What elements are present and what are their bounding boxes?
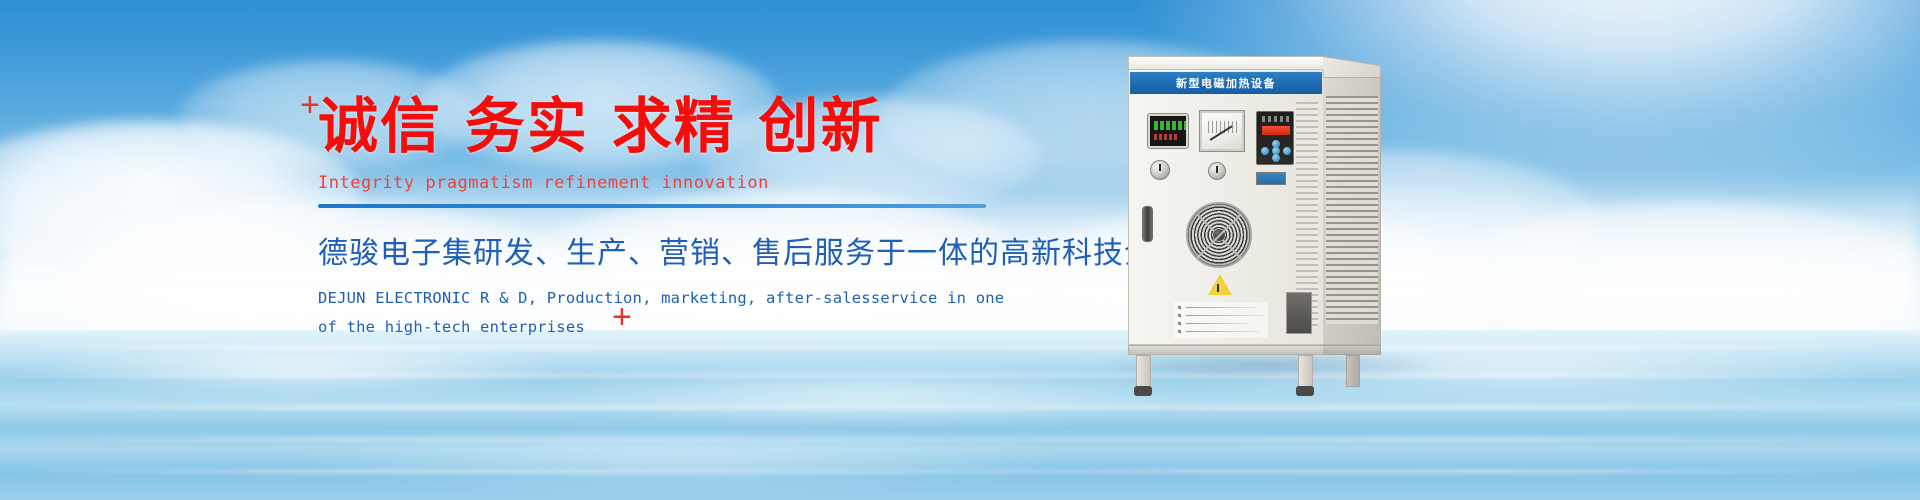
warning-triangle-icon bbox=[1208, 274, 1232, 295]
lower-air-intake bbox=[1286, 292, 1312, 334]
digital-display bbox=[1148, 114, 1188, 148]
power-switch[interactable] bbox=[1256, 172, 1286, 185]
subtitle-chinese: 德骏电子集研发、生产、营销、售后服务于一体的高新科技企业 bbox=[318, 228, 1078, 272]
analog-meter bbox=[1200, 111, 1244, 151]
machine-top-panel bbox=[1128, 56, 1324, 70]
fan-hub bbox=[1213, 229, 1225, 241]
warning-exclamation-mark bbox=[1217, 284, 1219, 292]
machine-foot-right bbox=[1296, 386, 1314, 396]
machine-side-vents bbox=[1326, 96, 1378, 324]
display-segment-top bbox=[1154, 121, 1186, 130]
machine-base-side bbox=[1323, 345, 1381, 355]
spec-label bbox=[1174, 302, 1268, 338]
machine-base bbox=[1128, 345, 1324, 355]
machine-label-text: 新型电磁加热设备 bbox=[1176, 75, 1276, 91]
product-image-heating-equipment: 新型电磁加热设备 bbox=[1120, 56, 1420, 386]
subtitle-english-line2: of the high-tech enterprises bbox=[318, 313, 1078, 342]
promo-banner: + + 诚信 务实 求精 创新 Integrity pragmatism ref… bbox=[0, 0, 1920, 500]
control-knob-right[interactable] bbox=[1208, 162, 1226, 180]
keypad-label bbox=[1262, 116, 1290, 122]
divider-rule bbox=[318, 204, 986, 208]
door-handle[interactable] bbox=[1142, 206, 1153, 242]
plus-decor-icon: + bbox=[300, 88, 320, 122]
display-segment-bottom bbox=[1154, 134, 1178, 140]
banner-copy: 诚信 务实 求精 创新 Integrity pragmatism refinem… bbox=[318, 96, 1078, 341]
headline-chinese: 诚信 务实 求精 创新 bbox=[318, 96, 1078, 159]
keypad-keys[interactable] bbox=[1261, 140, 1291, 162]
control-knob-left[interactable] bbox=[1150, 160, 1170, 180]
headline-english: Integrity pragmatism refinement innovati… bbox=[318, 173, 1078, 193]
machine-label-banner: 新型电磁加热设备 bbox=[1130, 72, 1322, 94]
keypad-led-display bbox=[1262, 126, 1290, 135]
control-keypad[interactable] bbox=[1256, 111, 1294, 165]
machine-leg-rear bbox=[1346, 355, 1360, 387]
subtitle-english-line1: DEJUN ELECTRONIC R & D, Production, mark… bbox=[318, 284, 1078, 313]
cooling-fan-grille bbox=[1186, 202, 1252, 268]
machine-foot-left bbox=[1134, 386, 1152, 396]
water-layer bbox=[0, 330, 1920, 500]
